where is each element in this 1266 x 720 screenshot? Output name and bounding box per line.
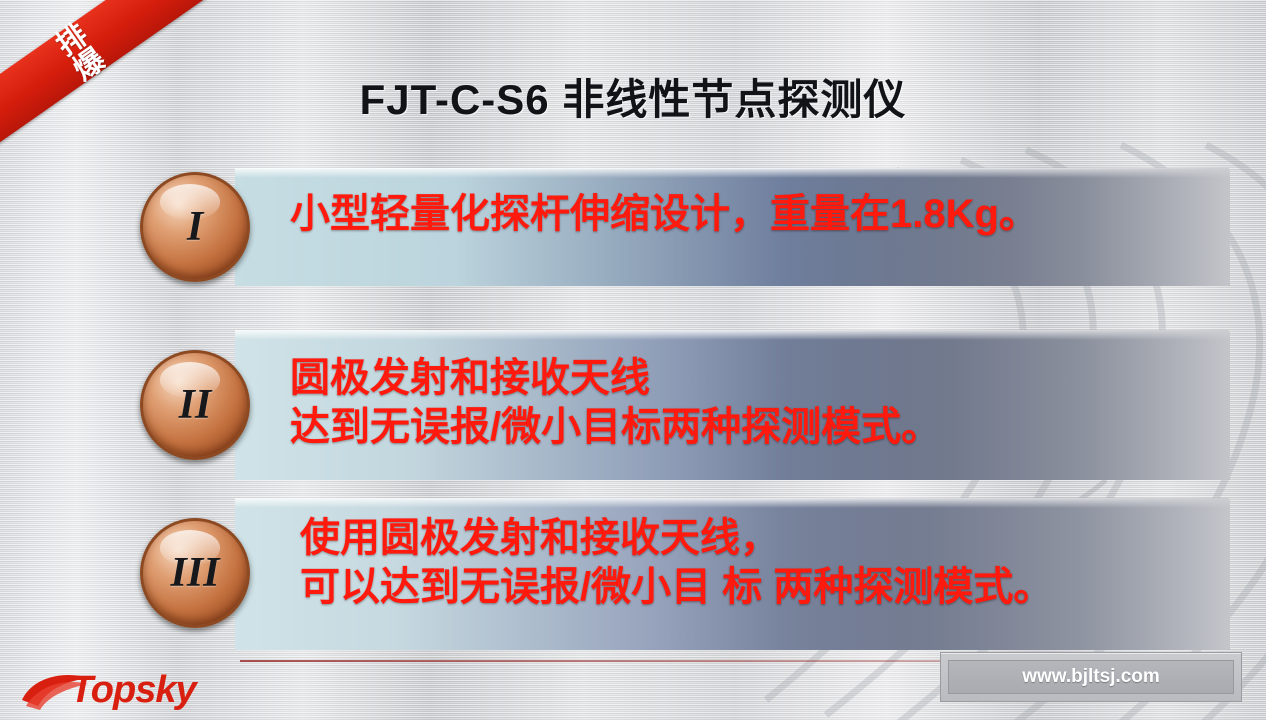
row-2-line-2: 达到无误报/微小目标两种探测模式。	[290, 403, 1220, 452]
content-row-3: III 使用圆极发射和接收天线， 可以达到无误报/微小目 标 两种探测模式。	[140, 498, 1230, 650]
website-box-inner: www.bjltsj.com	[948, 660, 1234, 694]
row-3-bar-highlight	[235, 498, 1230, 508]
row-3-text: 使用圆极发射和接收天线， 可以达到无误报/微小目 标 两种探测模式。	[300, 514, 1220, 612]
row-1-line-1: 小型轻量化探杆伸缩设计，重量在1.8Kg。	[290, 190, 1220, 239]
row-3-number-badge: III	[140, 518, 250, 628]
topsky-logo: Topsky	[18, 666, 248, 718]
row-3-badge-label: III	[170, 549, 219, 597]
row-2-bar-highlight	[235, 330, 1230, 340]
row-1-badge-label: I	[187, 203, 203, 251]
website-box: www.bjltsj.com	[940, 652, 1242, 702]
row-2-number-badge: II	[140, 350, 250, 460]
logo-wordmark: Topsky	[70, 669, 196, 712]
row-3-line-1: 使用圆极发射和接收天线，	[300, 514, 1220, 563]
row-1-text: 小型轻量化探杆伸缩设计，重量在1.8Kg。	[290, 190, 1220, 239]
row-3-line-2: 可以达到无误报/微小目 标 两种探测模式。	[300, 563, 1220, 612]
content-row-1: I 小型轻量化探杆伸缩设计，重量在1.8Kg。	[140, 168, 1230, 286]
content-row-2: II 圆极发射和接收天线 达到无误报/微小目标两种探测模式。	[140, 330, 1230, 480]
website-url[interactable]: www.bjltsj.com	[1022, 666, 1160, 688]
row-1-number-badge: I	[140, 172, 250, 282]
row-1-bar-highlight	[235, 168, 1230, 178]
row-2-badge-label: II	[179, 381, 212, 429]
slide-canvas: 排 爆 FJT-C-S6 非线性节点探测仪 I 小型轻量化探杆伸缩设计，重量在1…	[0, 0, 1266, 720]
row-2-line-1: 圆极发射和接收天线	[290, 354, 1220, 403]
row-2-text: 圆极发射和接收天线 达到无误报/微小目标两种探测模式。	[290, 354, 1220, 452]
page-title: FJT-C-S6 非线性节点探测仪	[0, 66, 1266, 127]
